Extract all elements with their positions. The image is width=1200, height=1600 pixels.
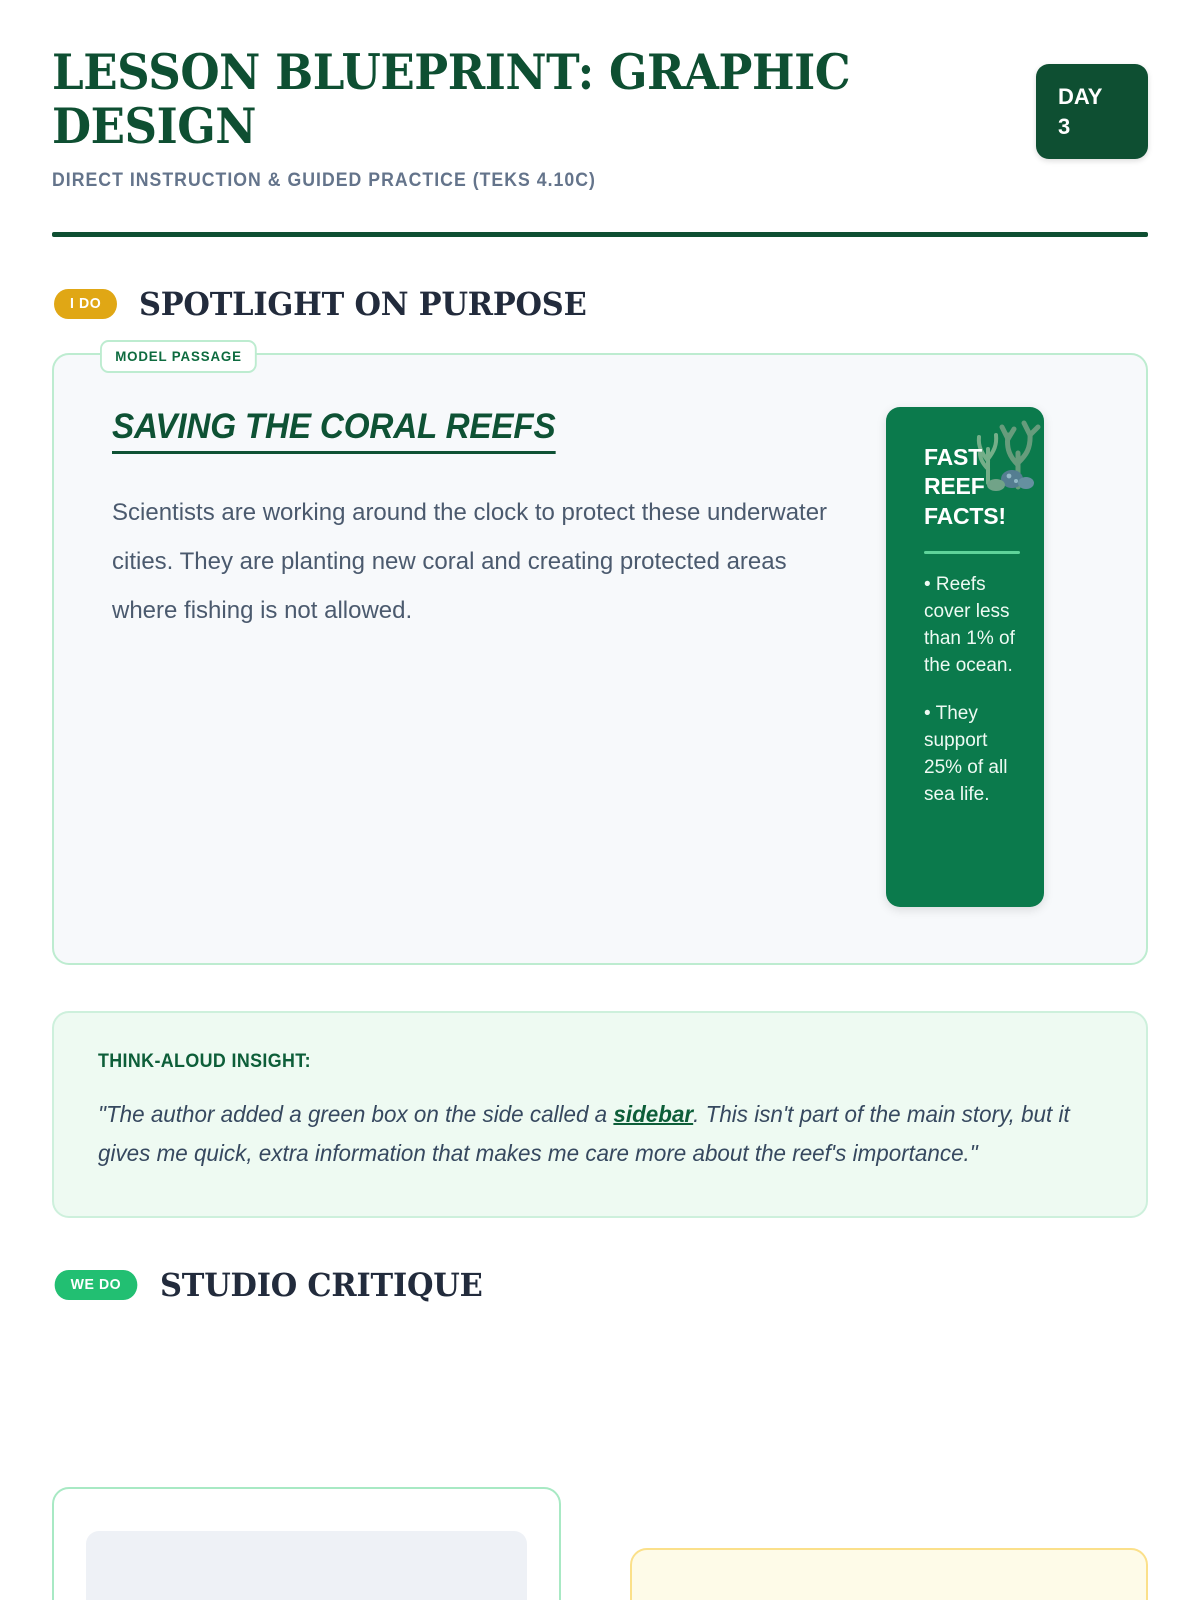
page-title: LESSON BLUEPRINT: GRAPHIC DESIGN <box>52 46 862 154</box>
critique-placeholder-box <box>86 1531 527 1600</box>
section-title-spotlight: SPOTLIGHT ON PURPOSE <box>139 285 587 323</box>
day-badge: DAY 3 <box>1036 64 1148 159</box>
think-aloud-label: THINK-ALOUD INSIGHT: <box>98 1051 1042 1073</box>
card-label-model-passage: MODEL PASSAGE <box>100 340 257 373</box>
passage-main: SAVING THE CORAL REEFS Scientists are wo… <box>112 407 852 923</box>
think-aloud-quote: "The author added a green box on the sid… <box>98 1095 1077 1174</box>
section-head-we-do: WE DO STUDIO CRITIQUE <box>52 1266 1148 1304</box>
think-aloud-card: THINK-ALOUD INSIGHT: "The author added a… <box>52 1011 1148 1218</box>
section-title-studio-critique: STUDIO CRITIQUE <box>160 1266 483 1304</box>
passage-title: SAVING THE CORAL REEFS <box>112 407 556 454</box>
sidebar-title: FAST REEF FACTS! <box>924 443 1018 531</box>
phase-pill-i-do: I DO <box>54 289 117 319</box>
sidebar-fact-2: • They support 25% of all sea life. <box>924 701 1018 809</box>
page-subtitle: DIRECT INSTRUCTION & GUIDED PRACTICE (TE… <box>52 170 870 192</box>
day-badge-number: 3 <box>1058 112 1128 142</box>
model-passage-card: SAVING THE CORAL REEFS Scientists are wo… <box>52 353 1148 965</box>
phase-pill-we-do: WE DO <box>55 1270 138 1300</box>
header-divider <box>52 232 1148 237</box>
day-badge-label: DAY <box>1058 82 1128 112</box>
passage-body: Scientists are working around the clock … <box>112 488 832 636</box>
section-head-i-do: I DO SPOTLIGHT ON PURPOSE <box>52 285 1148 323</box>
critique-card <box>52 1487 561 1600</box>
lesson-blueprint-page: LESSON BLUEPRINT: GRAPHIC DESIGN DIRECT … <box>0 0 1200 1600</box>
tip-card <box>630 1548 1148 1600</box>
sidebar-divider <box>924 551 1020 554</box>
title-block: LESSON BLUEPRINT: GRAPHIC DESIGN DIRECT … <box>52 46 932 192</box>
sidebar-fact-1: • Reefs cover less than 1% of the ocean. <box>924 572 1018 680</box>
bottom-card-row <box>52 1487 1148 1600</box>
quote-part-1: "The author added a green box on the sid… <box>98 1101 613 1127</box>
fast-reef-facts-sidebar: FAST REEF FACTS! • Reefs cover less than… <box>886 407 1044 907</box>
quote-keyword: sidebar <box>613 1101 693 1127</box>
page-header: LESSON BLUEPRINT: GRAPHIC DESIGN DIRECT … <box>52 0 1148 237</box>
model-passage-wrap: MODEL PASSAGE SAVING THE CORAL REEFS Sci… <box>52 353 1148 965</box>
